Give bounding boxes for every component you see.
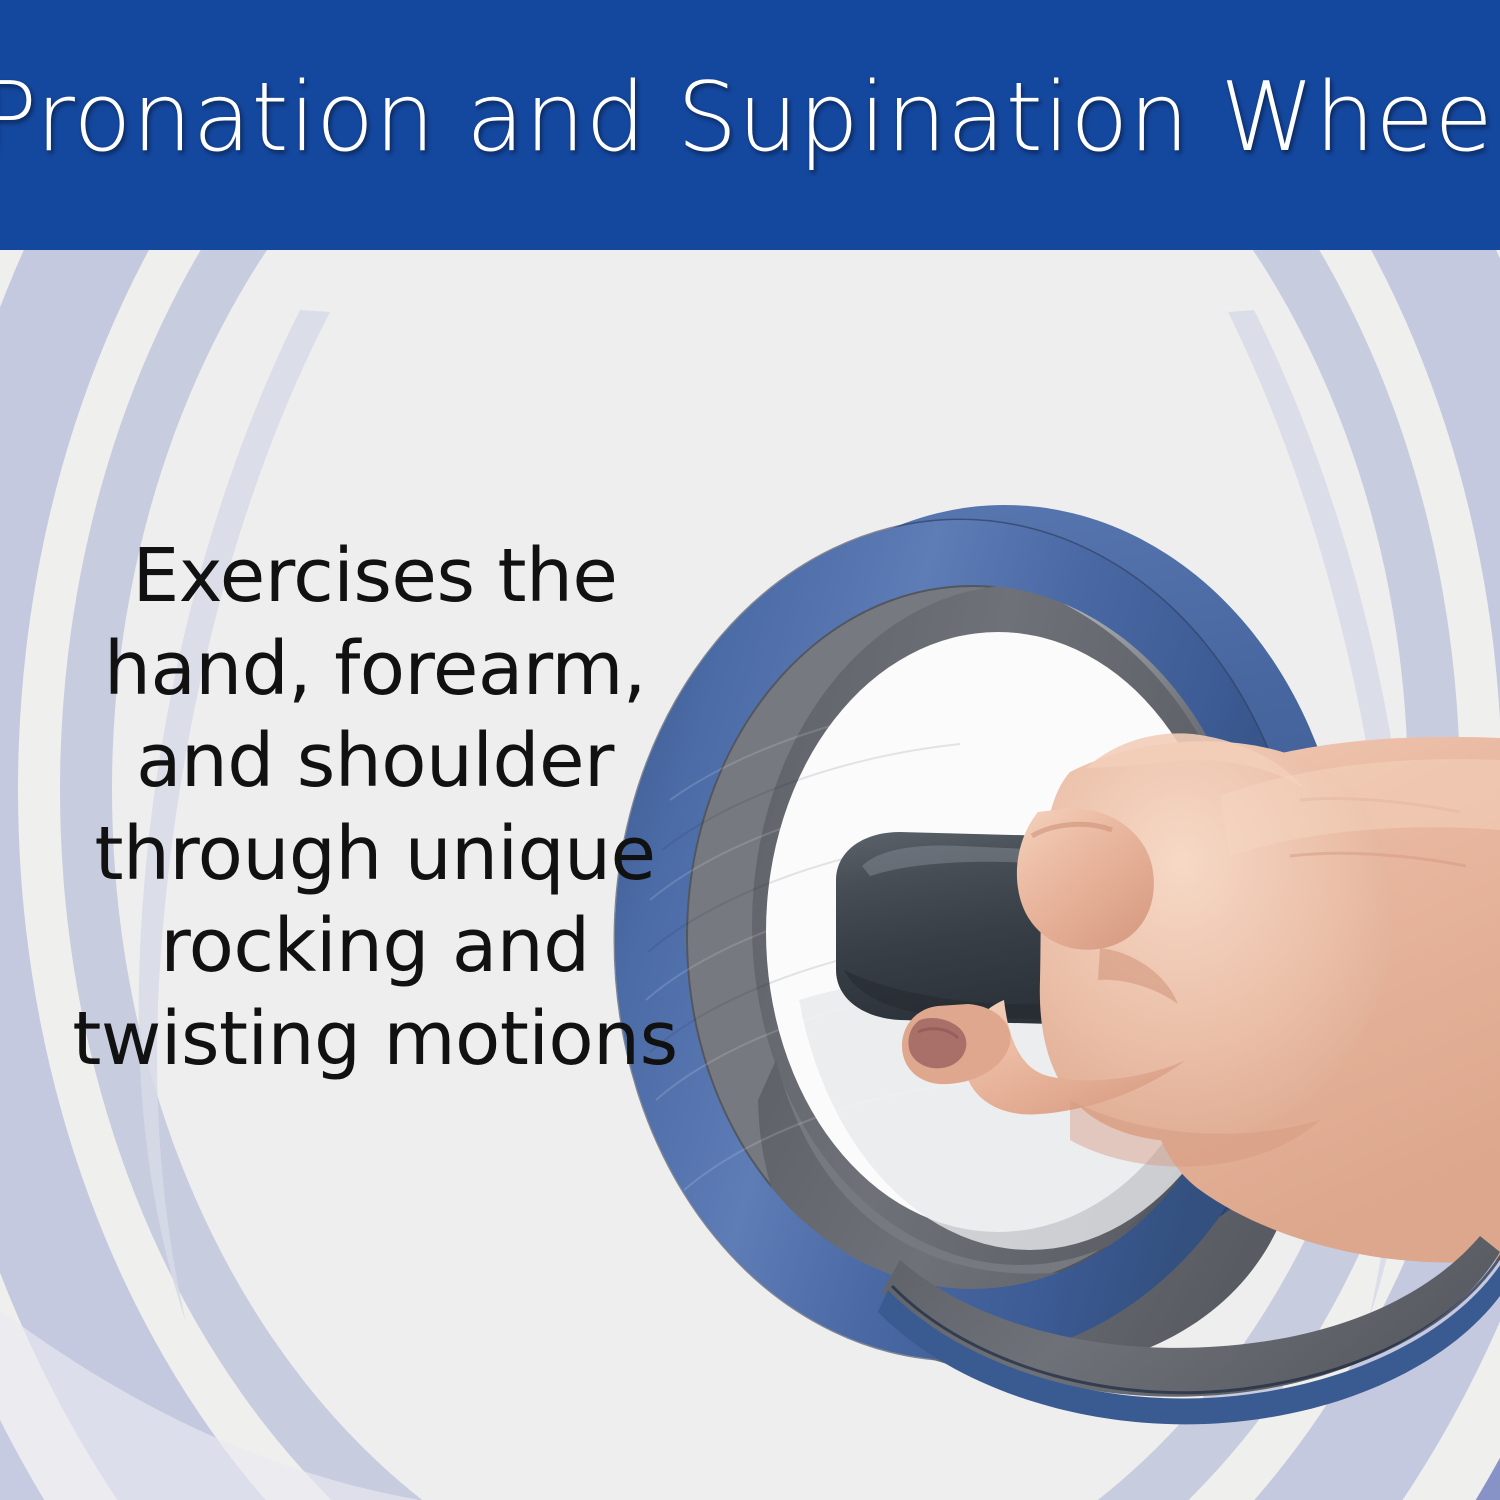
description-line: hand, forearm, (55, 623, 695, 716)
description-line: through unique (55, 808, 695, 901)
description-line: Exercises the (55, 530, 695, 623)
feature-description: Exercises the hand, forearm, and shoulde… (55, 530, 695, 1085)
description-line: and shoulder (55, 715, 695, 808)
page-title: Pronation and Supination Wheel (0, 0, 1500, 250)
product-image (600, 500, 1500, 1500)
wheel-icon (600, 500, 1500, 1500)
description-line: twisting motions (55, 993, 695, 1086)
product-feature-card: Pronation and Supination Wheel Exercises… (0, 0, 1500, 1500)
header-bar: Pronation and Supination Wheel (0, 0, 1500, 250)
description-line: rocking and (55, 900, 695, 993)
